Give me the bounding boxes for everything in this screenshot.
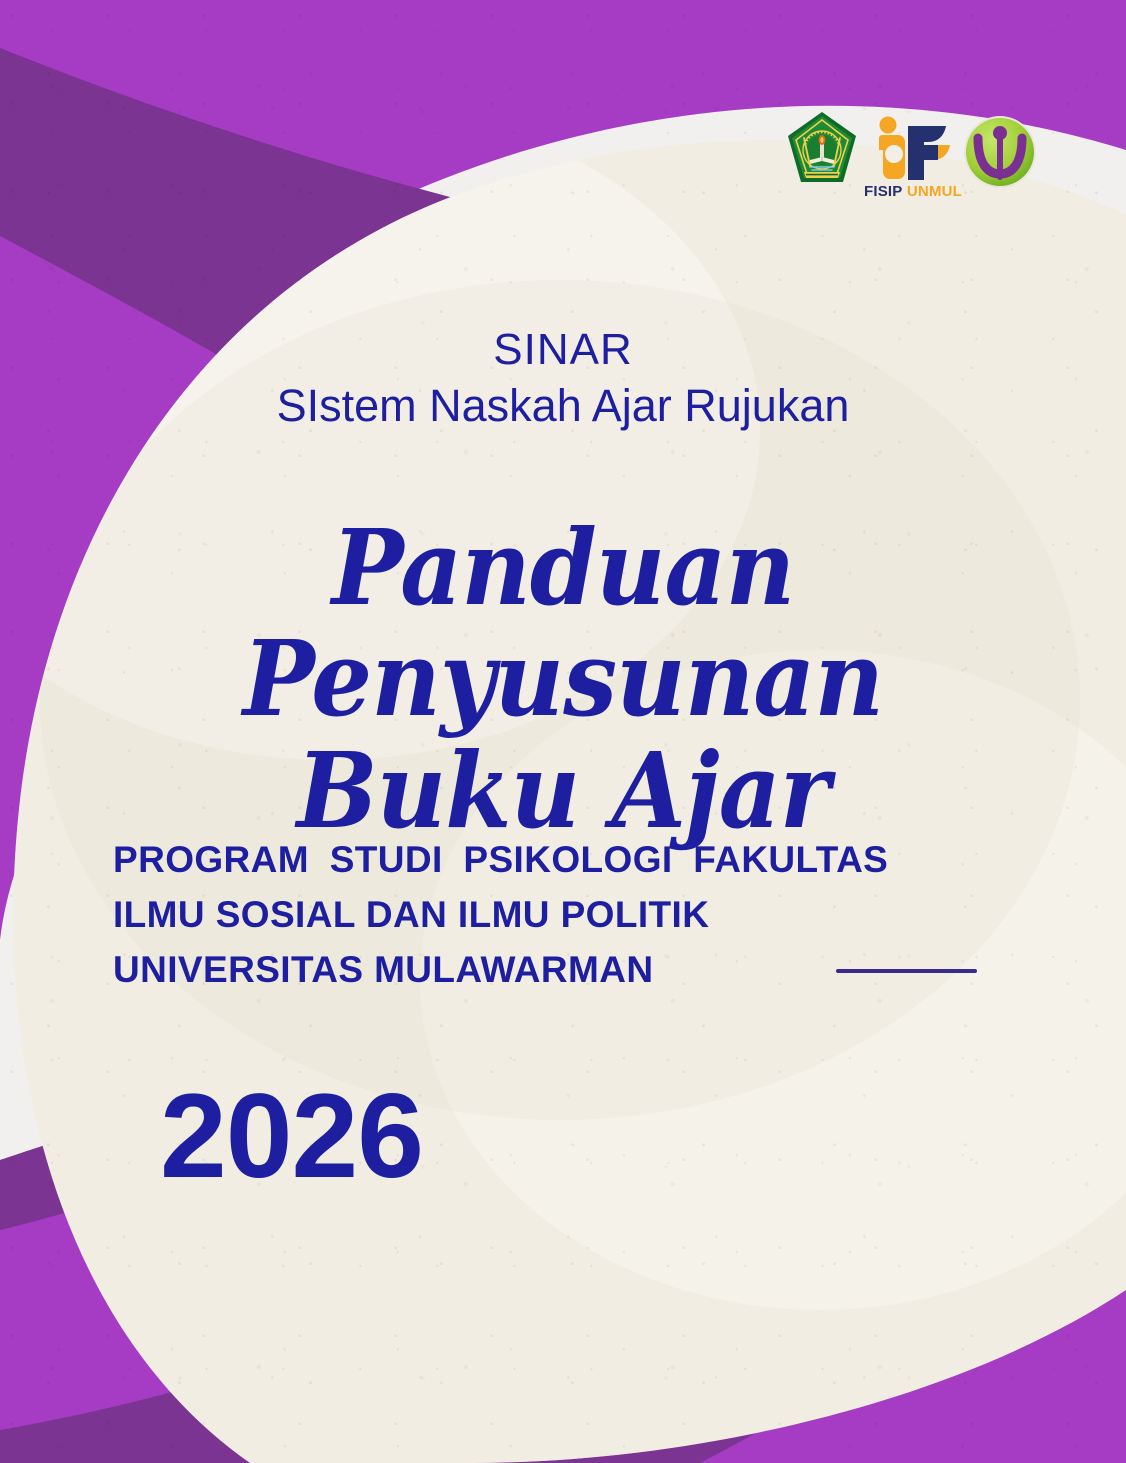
affiliation-line-2: ILMU SOSIAL DAN ILMU POLITIK	[113, 888, 1003, 943]
book-cover: FISIP UNMUL	[0, 0, 1126, 1463]
brand-acronym: SINAR	[0, 326, 1126, 374]
page-title: Panduan Penyusunan Buku Ajar	[45, 512, 1081, 846]
page-title-line-2: Buku Ajar	[45, 735, 1081, 846]
logo-fisip-unmul-slot: FISIP UNMUL	[868, 110, 952, 196]
publication-year: 2026	[160, 1076, 423, 1196]
psi-symbol-icon	[962, 114, 1038, 190]
brand-expansion: SIstem Naskah Ajar Rujukan	[0, 382, 1126, 431]
fisip-unmul-wordmark: FISIP UNMUL	[864, 183, 962, 200]
brand-block: SINAR SIstem Naskah Ajar Rujukan	[0, 326, 1126, 430]
fisip-wordmark-secondary: UNMUL	[907, 183, 962, 200]
logo-psikologi-slot	[962, 110, 1038, 195]
logo-row: FISIP UNMUL	[786, 110, 1046, 200]
affiliation-divider-rule	[836, 969, 977, 973]
page-title-line-1: Panduan Penyusunan	[45, 512, 1081, 735]
affiliation-line-1: PROGRAM STUDI PSIKOLOGI FAKULTAS	[113, 833, 1003, 888]
university-seal-icon	[786, 110, 858, 188]
logo-unmul-seal-slot	[786, 110, 858, 193]
fisip-wordmark-primary: FISIP	[864, 183, 903, 200]
